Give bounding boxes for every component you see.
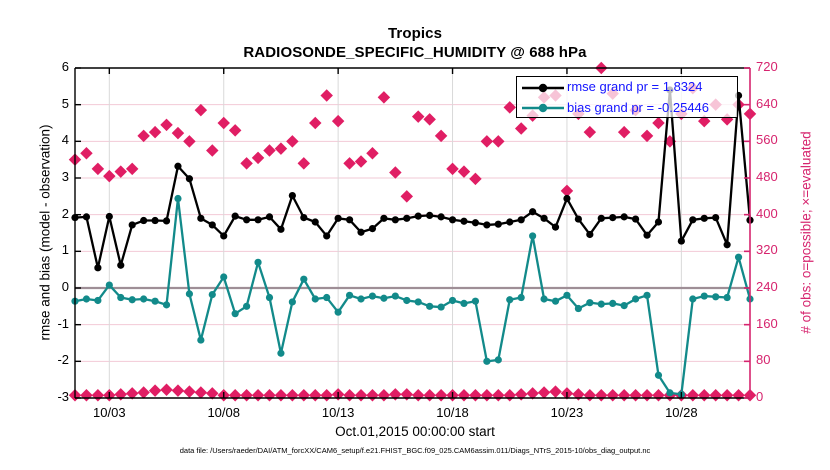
legend-row-rmse[interactable]: rmse grand pr = 1.8324 bbox=[517, 77, 737, 98]
obs-evaluated-marker bbox=[265, 146, 274, 155]
y-tick-label-right: 640 bbox=[756, 96, 802, 111]
obs-evaluated-marker bbox=[299, 159, 308, 168]
bias-data-point bbox=[552, 298, 559, 305]
rmse-data-point bbox=[472, 219, 479, 226]
bias-data-point bbox=[529, 232, 536, 239]
rmse-data-point bbox=[163, 217, 170, 224]
obs-evaluated-marker bbox=[402, 192, 411, 201]
obs-evaluated-marker bbox=[208, 146, 217, 155]
legend-label-rmse: rmse grand pr = 1.8324 bbox=[567, 79, 703, 94]
bias-data-point bbox=[335, 309, 342, 316]
bias-data-point bbox=[735, 254, 742, 261]
obs-evaluated-marker bbox=[93, 164, 102, 173]
bias-data-point bbox=[403, 297, 410, 304]
obs-evaluated-marker bbox=[620, 128, 629, 137]
bias-data-point bbox=[220, 273, 227, 280]
rmse-data-point bbox=[529, 208, 536, 215]
obs-evaluated-marker bbox=[288, 137, 297, 146]
bias-data-point bbox=[563, 292, 570, 299]
y-tick-label-right: 80 bbox=[756, 352, 802, 367]
bias-data-point bbox=[209, 291, 216, 298]
obs-evaluated-marker bbox=[425, 115, 434, 124]
rmse-data-point bbox=[369, 225, 376, 232]
rmse-data-point bbox=[300, 214, 307, 221]
bias-data-point bbox=[724, 294, 731, 301]
rmse-data-point bbox=[460, 218, 467, 225]
bias-data-point bbox=[575, 305, 582, 312]
bias-data-point bbox=[643, 292, 650, 299]
rmse-data-point bbox=[392, 216, 399, 223]
y-tick-label-left: 3 bbox=[29, 169, 69, 184]
obs-evaluated-marker bbox=[368, 149, 377, 158]
x-tick-label: 10/13 bbox=[303, 405, 373, 420]
bias-data-point bbox=[323, 294, 330, 301]
bias-data-point bbox=[415, 298, 422, 305]
bias-data-point bbox=[632, 295, 639, 302]
x-tick-label: 10/03 bbox=[74, 405, 144, 420]
rmse-data-point bbox=[426, 212, 433, 219]
rmse-data-point bbox=[232, 213, 239, 220]
rmse-data-point bbox=[575, 215, 582, 222]
x-tick-label: 10/28 bbox=[646, 405, 716, 420]
y-tick-label-left: 4 bbox=[29, 132, 69, 147]
bias-data-point bbox=[243, 303, 250, 310]
obs-evaluated-marker bbox=[471, 175, 480, 184]
y-tick-label-left: 1 bbox=[29, 242, 69, 257]
rmse-data-point bbox=[438, 213, 445, 220]
rmse-data-point bbox=[151, 217, 158, 224]
bias-data-point bbox=[392, 292, 399, 299]
obs-evaluated-marker bbox=[162, 120, 171, 129]
obs-evaluated-marker bbox=[654, 119, 663, 128]
rmse-data-point bbox=[94, 264, 101, 271]
obs-evaluated-marker bbox=[151, 128, 160, 137]
rmse-data-point bbox=[209, 221, 216, 228]
x-tick-label: 10/23 bbox=[532, 405, 602, 420]
rmse-data-point bbox=[586, 231, 593, 238]
rmse-data-point bbox=[254, 216, 261, 223]
legend-swatch-rmse-icon bbox=[520, 77, 566, 98]
obs-evaluated-marker bbox=[391, 168, 400, 177]
rmse-data-point bbox=[415, 213, 422, 220]
y-tick-label-right: 720 bbox=[756, 59, 802, 74]
bias-data-point bbox=[540, 295, 547, 302]
y-tick-label-left: -1 bbox=[29, 316, 69, 331]
obs-evaluated-marker bbox=[460, 167, 469, 176]
bias-data-point bbox=[266, 294, 273, 301]
bias-data-point bbox=[495, 356, 502, 363]
rmse-data-point bbox=[117, 262, 124, 269]
y-tick-label-left: 5 bbox=[29, 96, 69, 111]
bias-data-point bbox=[586, 299, 593, 306]
rmse-data-point bbox=[266, 213, 273, 220]
obs-evaluated-marker bbox=[231, 126, 240, 135]
obs-evaluated-marker bbox=[242, 159, 251, 168]
obs-evaluated-marker bbox=[414, 112, 423, 121]
bias-data-point bbox=[163, 301, 170, 308]
obs-evaluated-marker bbox=[334, 117, 343, 126]
bias-data-point bbox=[129, 296, 136, 303]
bias-data-point bbox=[598, 301, 605, 308]
rmse-data-point bbox=[243, 216, 250, 223]
y-tick-label-right: 320 bbox=[756, 242, 802, 257]
obs-evaluated-marker bbox=[105, 172, 114, 181]
bias-data-point bbox=[655, 372, 662, 379]
obs-evaluated-marker bbox=[322, 91, 331, 100]
bias-data-point bbox=[472, 298, 479, 305]
rmse-data-point bbox=[655, 218, 662, 225]
bias-data-point bbox=[94, 297, 101, 304]
rmse-data-point bbox=[518, 216, 525, 223]
y-tick-label-right: 240 bbox=[756, 279, 802, 294]
obs-evaluated-marker bbox=[437, 131, 446, 140]
bias-data-point bbox=[83, 295, 90, 302]
y-tick-label-left: 2 bbox=[29, 206, 69, 221]
obs-evaluated-marker bbox=[82, 149, 91, 158]
bias-data-point bbox=[174, 195, 181, 202]
rmse-data-point bbox=[712, 214, 719, 221]
bias-data-point bbox=[151, 298, 158, 305]
rmse-data-point bbox=[197, 215, 204, 222]
bias-data-point bbox=[506, 296, 513, 303]
rmse-data-point bbox=[106, 213, 113, 220]
y-tick-label-left: -2 bbox=[29, 352, 69, 367]
obs-evaluated-marker bbox=[139, 131, 148, 140]
y-tick-label-right: 560 bbox=[756, 132, 802, 147]
rmse-data-point bbox=[403, 215, 410, 222]
obs-evaluated-marker bbox=[505, 103, 514, 112]
rmse-data-point bbox=[323, 232, 330, 239]
obs-evaluated-marker bbox=[345, 159, 354, 168]
bias-data-point bbox=[449, 297, 456, 304]
bias-data-point bbox=[689, 295, 696, 302]
plot-area bbox=[0, 0, 830, 470]
obs-evaluated-marker bbox=[219, 119, 228, 128]
bias-data-point bbox=[426, 303, 433, 310]
rmse-data-point bbox=[495, 221, 502, 228]
bias-data-point bbox=[346, 292, 353, 299]
rmse-data-point bbox=[129, 221, 136, 228]
rmse-data-point bbox=[540, 215, 547, 222]
obs-evaluated-marker bbox=[517, 124, 526, 133]
y-tick-label-left: -3 bbox=[29, 389, 69, 404]
bias-data-point bbox=[277, 350, 284, 357]
bias-data-point bbox=[369, 292, 376, 299]
bias-data-point bbox=[460, 300, 467, 307]
obs-evaluated-marker bbox=[563, 186, 572, 195]
obs-evaluated-marker bbox=[116, 167, 125, 176]
figure-canvas: Tropics RADIOSONDE_SPECIFIC_HUMIDITY @ 6… bbox=[0, 0, 830, 470]
legend-row-bias[interactable]: bias grand pr = -0.25446 bbox=[517, 98, 737, 119]
y-tick-label-left: 6 bbox=[29, 59, 69, 74]
obs-evaluated-marker bbox=[196, 106, 205, 115]
rmse-data-point bbox=[701, 215, 708, 222]
obs-evaluated-marker bbox=[643, 131, 652, 140]
obs-evaluated-marker bbox=[174, 129, 183, 138]
rmse-data-point bbox=[598, 215, 605, 222]
rmse-data-point bbox=[609, 214, 616, 221]
rmse-data-point bbox=[83, 213, 90, 220]
rmse-data-point bbox=[506, 218, 513, 225]
legend-swatch-bias-icon bbox=[520, 98, 566, 119]
bias-data-point bbox=[621, 302, 628, 309]
rmse-data-point bbox=[689, 216, 696, 223]
bias-data-point bbox=[140, 295, 147, 302]
rmse-data-point bbox=[678, 237, 685, 244]
rmse-data-point bbox=[289, 192, 296, 199]
obs-evaluated-marker bbox=[494, 137, 503, 146]
rmse-data-point bbox=[277, 226, 284, 233]
bias-data-point bbox=[357, 295, 364, 302]
rmse-data-point bbox=[632, 215, 639, 222]
rmse-data-point bbox=[140, 217, 147, 224]
rmse-data-point bbox=[186, 175, 193, 182]
obs-evaluated-marker bbox=[277, 144, 286, 153]
bias-data-point bbox=[701, 292, 708, 299]
x-tick-label: 10/08 bbox=[189, 405, 259, 420]
x-tick-label: 10/18 bbox=[418, 405, 488, 420]
rmse-data-point bbox=[357, 229, 364, 236]
obs-evaluated-marker bbox=[482, 137, 491, 146]
rmse-data-point bbox=[346, 216, 353, 223]
bias-data-point bbox=[666, 389, 673, 396]
legend-label-bias: bias grand pr = -0.25446 bbox=[567, 100, 709, 115]
rmse-data-point bbox=[449, 216, 456, 223]
rmse-data-point bbox=[483, 221, 490, 228]
bias-data-point bbox=[380, 295, 387, 302]
y-tick-label-right: 0 bbox=[756, 389, 802, 404]
rmse-data-point bbox=[380, 215, 387, 222]
obs-evaluated-marker bbox=[128, 164, 137, 173]
obs-evaluated-marker bbox=[311, 119, 320, 128]
bias-data-point bbox=[300, 276, 307, 283]
bias-data-point bbox=[438, 303, 445, 310]
bias-data-point bbox=[609, 300, 616, 307]
rmse-data-point bbox=[335, 215, 342, 222]
obs-evaluated-marker bbox=[448, 164, 457, 173]
y-tick-label-right: 160 bbox=[756, 316, 802, 331]
y-tick-label-right: 400 bbox=[756, 206, 802, 221]
obs-evaluated-marker bbox=[585, 128, 594, 137]
bias-data-point bbox=[712, 293, 719, 300]
bias-data-point bbox=[289, 298, 296, 305]
bias-data-point bbox=[312, 295, 319, 302]
rmse-data-point bbox=[621, 213, 628, 220]
obs-evaluated-marker bbox=[254, 153, 263, 162]
bias-data-point bbox=[232, 310, 239, 317]
chart-legend[interactable]: rmse grand pr = 1.8324 bias grand pr = -… bbox=[516, 76, 738, 118]
rmse-data-point bbox=[312, 218, 319, 225]
obs-evaluated-marker bbox=[357, 157, 366, 166]
bias-data-point bbox=[483, 358, 490, 365]
bias-data-point bbox=[106, 281, 113, 288]
rmse-data-point bbox=[174, 163, 181, 170]
bias-data-point bbox=[117, 294, 124, 301]
obs-evaluated-marker bbox=[185, 137, 194, 146]
rmse-data-point bbox=[563, 195, 570, 202]
bias-data-point bbox=[186, 290, 193, 297]
obs-evaluated-marker bbox=[379, 93, 388, 102]
rmse-data-point bbox=[643, 232, 650, 239]
y-tick-label-right: 480 bbox=[756, 169, 802, 184]
bias-data-point bbox=[254, 259, 261, 266]
rmse-data-point bbox=[724, 241, 731, 248]
bias-data-point bbox=[518, 294, 525, 301]
y-tick-label-left: 0 bbox=[29, 279, 69, 294]
bias-data-point bbox=[197, 336, 204, 343]
rmse-data-point bbox=[220, 232, 227, 239]
rmse-data-point bbox=[552, 224, 559, 231]
